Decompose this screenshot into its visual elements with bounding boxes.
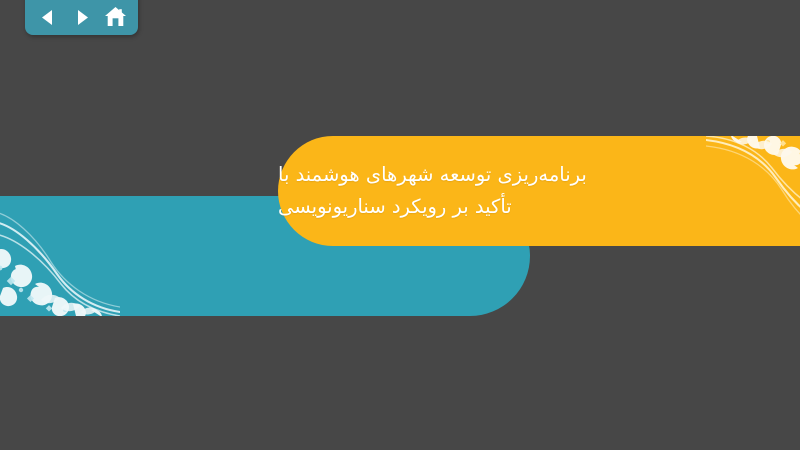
navigation-toolbar: [25, 0, 138, 35]
back-icon: [38, 8, 57, 27]
slide-canvas: برنامه‌ریزی توسعه شهرهای هوشمند با تأکید…: [0, 0, 800, 450]
home-icon: [104, 6, 127, 28]
home-button[interactable]: [102, 4, 129, 30]
orange-title-panel: [278, 136, 800, 246]
arabesque-ornament-teal: [0, 204, 120, 316]
back-button[interactable]: [34, 4, 61, 30]
arabesque-ornament-orange: [706, 136, 800, 246]
forward-button[interactable]: [68, 4, 95, 30]
forward-icon: [72, 8, 91, 27]
